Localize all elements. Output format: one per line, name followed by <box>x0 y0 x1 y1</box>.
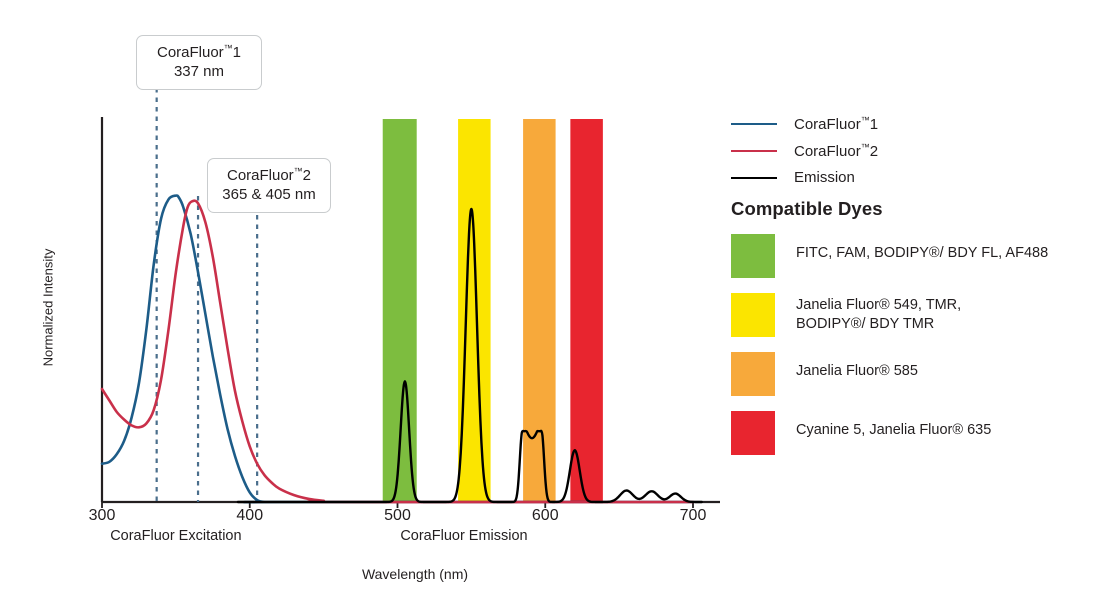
legend-item-2: Emission <box>731 164 1101 191</box>
region-label-emission: CoraFluor Emission <box>374 528 554 544</box>
x-tick-label-700: 700 <box>663 507 723 525</box>
x-tick-label-500: 500 <box>368 507 428 525</box>
dye-color-swatch <box>731 293 775 337</box>
legend-line-swatch <box>731 177 777 179</box>
legend-label-base: CoraFluor <box>794 116 861 133</box>
dye-color-swatch <box>731 234 775 278</box>
legend-label-suffix: 2 <box>870 143 878 160</box>
chart-figure: Normalized Intensity Wavelength (nm) 300… <box>0 0 1110 612</box>
dye-item-2: Janelia Fluor® 585 <box>731 352 1106 396</box>
dye-band-3 <box>570 119 603 502</box>
callout-corafluor1-line1: CoraFluor™1 <box>149 43 249 62</box>
compatible-dyes-panel: Compatible Dyes FITC, FAM, BODIPY®/ BDY … <box>731 198 1106 470</box>
legend-item-label: CoraFluor™1 <box>794 115 878 133</box>
plot-area: Normalized Intensity Wavelength (nm) 300… <box>0 0 740 612</box>
dye-color-swatch <box>731 411 775 455</box>
x-tick-label-300: 300 <box>72 507 132 525</box>
dye-band-2 <box>523 119 556 502</box>
trademark-symbol: ™ <box>861 142 870 152</box>
legend-line-swatch <box>731 123 777 125</box>
series-legend: CoraFluor™1CoraFluor™2Emission <box>731 110 1101 191</box>
trademark-symbol: ™ <box>224 43 233 53</box>
callout-corafluor1: CoraFluor™1 337 nm <box>136 35 262 90</box>
dye-item-0: FITC, FAM, BODIPY®/ BDY FL, AF488 <box>731 234 1106 278</box>
legend-label-suffix: 1 <box>870 116 878 133</box>
dye-item-label: Janelia Fluor® 549, TMR, BODIPY®/ BDY TM… <box>796 293 961 335</box>
trademark-symbol: ™ <box>294 166 303 176</box>
dye-item-3: Cyanine 5, Janelia Fluor® 635 <box>731 411 1106 455</box>
legend-item-0: CoraFluor™1 <box>731 110 1101 137</box>
x-tick-label-400: 400 <box>220 507 280 525</box>
legend-label-base: CoraFluor <box>794 143 861 160</box>
callout-corafluor1-line2: 337 nm <box>149 62 249 81</box>
compatible-dyes-list: FITC, FAM, BODIPY®/ BDY FL, AF488Janelia… <box>731 234 1106 455</box>
legend-item-label: Emission <box>794 169 855 186</box>
callout-corafluor2-line2: 365 & 405 nm <box>220 185 318 204</box>
dye-band-1 <box>458 119 491 502</box>
dye-item-1: Janelia Fluor® 549, TMR, BODIPY®/ BDY TM… <box>731 293 1106 337</box>
compatible-dyes-heading: Compatible Dyes <box>731 198 1106 220</box>
legend-line-swatch <box>731 150 777 152</box>
dye-item-label: Cyanine 5, Janelia Fluor® 635 <box>796 411 991 440</box>
legend-item-1: CoraFluor™2 <box>731 137 1101 164</box>
y-axis-title: Normalized Intensity <box>41 238 56 378</box>
callout-corafluor2-line1: CoraFluor™2 <box>220 166 318 185</box>
dye-color-swatch <box>731 352 775 396</box>
legend-item-label: CoraFluor™2 <box>794 142 878 160</box>
dye-item-label: FITC, FAM, BODIPY®/ BDY FL, AF488 <box>796 234 1048 263</box>
region-label-excitation: CoraFluor Excitation <box>86 528 266 544</box>
dye-item-label: Janelia Fluor® 585 <box>796 352 918 381</box>
trademark-symbol: ™ <box>861 115 870 125</box>
callout-corafluor2: CoraFluor™2 365 & 405 nm <box>207 158 331 213</box>
x-tick-label-600: 600 <box>515 507 575 525</box>
x-axis-title: Wavelength (nm) <box>265 566 565 582</box>
